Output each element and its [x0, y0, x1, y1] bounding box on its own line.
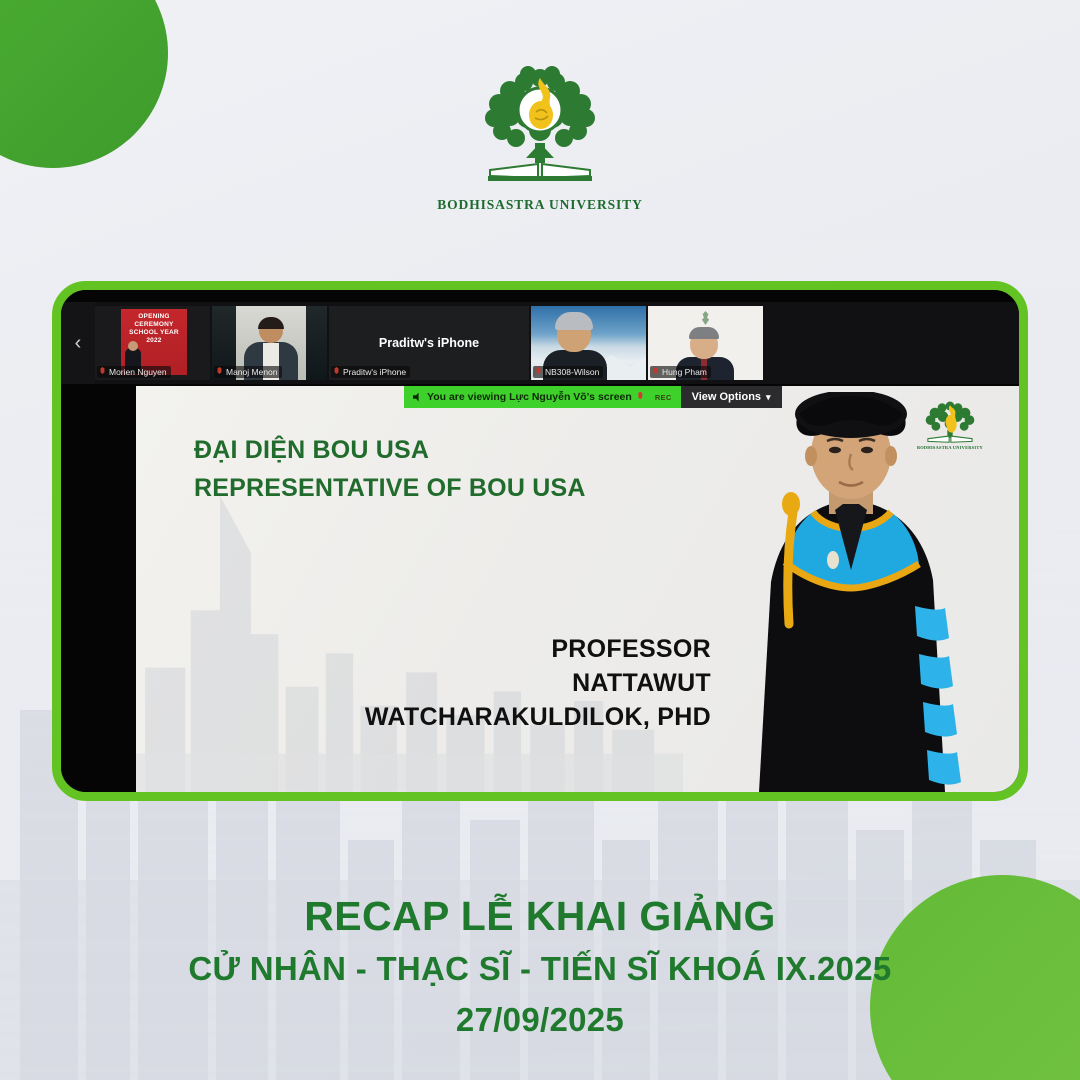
screen-share-status-bar: You are viewing Lực Nguyễn Võ's screen R… — [404, 386, 782, 408]
viewing-text: You are viewing Lực Nguyễn Võ's screen — [427, 391, 632, 403]
mic-muted-icon — [216, 367, 223, 377]
participant-name: NB308-Wilson — [545, 367, 599, 377]
participant-tile-praditw-iphone[interactable]: Praditw's iPhone Praditw's iPhone — [329, 306, 529, 380]
participant-nametag: Praditw's iPhone — [331, 366, 410, 378]
person-hair-icon — [555, 312, 593, 330]
zoom-meeting-window: ĐẠI DIỆN BOU USA REPRESENTATIVE OF BOU U… — [52, 281, 1028, 801]
person-hair-icon — [689, 327, 719, 339]
professor-in-doctoral-regalia-photo-icon — [701, 392, 1001, 792]
participant-name: Praditw's iPhone — [343, 367, 406, 377]
speaker-firstname: NATTAWUT — [136, 666, 711, 700]
speaker-lastname: WATCHARAKULDILOK, PHD — [136, 700, 711, 734]
caption-subtitle: CỬ NHÂN - THẠC SĨ - TIẾN SĨ KHOÁ IX.2025 — [0, 944, 1080, 994]
caption-block: RECAP LỄ KHAI GIẢNG CỬ NHÂN - THẠC SĨ - … — [0, 888, 1080, 1046]
bodhi-tree-logo-icon — [466, 58, 614, 193]
speaker-title: PROFESSOR — [136, 632, 711, 666]
view-options-label: View Options — [692, 391, 761, 403]
participant-name: Hung Pham — [662, 367, 707, 377]
mic-muted-icon — [99, 367, 106, 377]
mic-muted-icon — [652, 367, 659, 377]
zoom-window-inner: ĐẠI DIỆN BOU USA REPRESENTATIVE OF BOU U… — [61, 290, 1019, 792]
slide-heading-line-en: REPRESENTATIVE OF BOU USA — [194, 469, 586, 507]
speaker-name-block: PROFESSOR NATTAWUT WATCHARAKULDILOK, PHD — [136, 632, 719, 734]
slide-heading: ĐẠI DIỆN BOU USA REPRESENTATIVE OF BOU U… — [194, 431, 586, 507]
participant-nametag: NB308-Wilson — [533, 366, 603, 378]
chevron-left-icon[interactable]: ‹ — [61, 302, 95, 384]
screen-share-icon — [637, 392, 644, 403]
brand-name: BODHISASTRA UNIVERSITY — [437, 197, 642, 213]
participant-name: Manoj Menon — [226, 367, 278, 377]
poster-canvas: BODHISASTRA UNIVERSITY — [0, 0, 1080, 1080]
rec-label: REC — [649, 393, 672, 402]
participant-filmstrip: ‹ OPENING CEREMONY SCHOOL YEAR 2022 — [61, 302, 1019, 384]
caption-date: 27/09/2025 — [0, 994, 1080, 1046]
crest-icon — [699, 311, 712, 325]
shared-screen-slide: ĐẠI DIỆN BOU USA REPRESENTATIVE OF BOU U… — [136, 386, 1019, 792]
participant-nametag: Morien Nguyen — [97, 366, 171, 378]
view-options-button[interactable]: View Options ▾ — [681, 386, 782, 408]
participant-tile-nb308-wilson[interactable]: NB308-Wilson — [531, 306, 646, 380]
viewing-status: You are viewing Lực Nguyễn Võ's screen R… — [404, 386, 681, 408]
participant-nametag: Manoj Menon — [214, 366, 282, 378]
participant-name: Morien Nguyen — [109, 367, 167, 377]
slide-heading-line-vi: ĐẠI DIỆN BOU USA — [194, 431, 586, 469]
mic-muted-icon — [333, 367, 340, 377]
mic-muted-icon — [535, 367, 542, 377]
university-brand: BODHISASTRA UNIVERSITY — [0, 58, 1080, 213]
speaker-icon — [413, 393, 422, 402]
caption-title: RECAP LỄ KHAI GIẢNG — [0, 888, 1080, 944]
participant-tile-hung-pham[interactable]: Hung Pham — [648, 306, 763, 380]
chevron-down-icon: ▾ — [766, 392, 771, 403]
poster-line-1: OPENING CEREMONY — [121, 313, 187, 329]
participant-tile-manoj-menon[interactable]: Manoj Menon — [212, 306, 327, 380]
participant-tiles: OPENING CEREMONY SCHOOL YEAR 2022 Morien… — [95, 306, 763, 380]
city-skyline-silhouette-icon — [136, 467, 683, 792]
participant-tile-morien-nguyen[interactable]: OPENING CEREMONY SCHOOL YEAR 2022 Morien… — [95, 306, 210, 380]
participant-nametag: Hung Pham — [650, 366, 711, 378]
